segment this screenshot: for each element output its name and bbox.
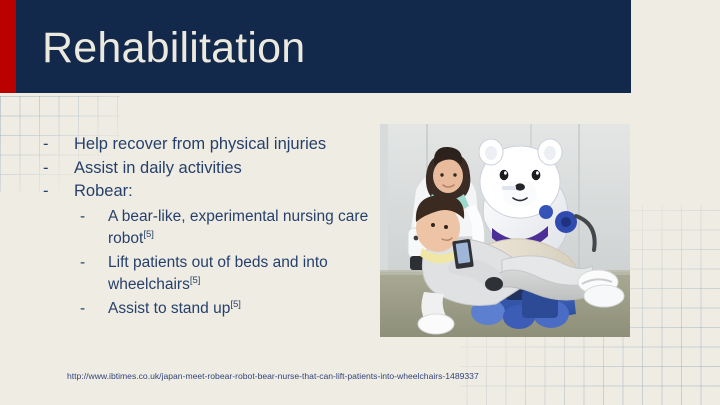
bullet-dash-icon: - [43,133,49,157]
bullet-dash-icon: - [43,180,49,204]
header-accent-bar [0,0,16,93]
source-url[interactable]: http://www.ibtimes.co.uk/japan-meet-robe… [67,370,479,382]
list-item-label: Assist in daily activities [74,159,242,177]
sub-list-item: - Assist to stand up[5] [78,298,370,321]
page-title: Rehabilitation [42,21,305,75]
sub-list-item-label: A bear-like, experimental nursing care r… [108,208,368,248]
bullet-dash-icon: - [43,157,49,181]
robear-photo: ROBEAR [380,124,630,337]
reference-marker: [5] [230,298,241,309]
list-item-label: Help recover from physical injuries [74,135,326,153]
sub-list-item-label: Lift patients out of beds and into wheel… [108,254,328,294]
sub-list-item: - Lift patients out of beds and into whe… [78,252,370,297]
list-item: - Assist in daily activities [40,157,370,181]
slide: Rehabilitation - Help recover from physi… [0,0,720,405]
bullet-list: - Help recover from physical injuries - … [40,133,370,321]
bullet-dash-icon: - [80,298,85,321]
reference-marker: [5] [190,275,201,286]
sub-list-item-label: Assist to stand up [108,300,230,317]
list-item: - Help recover from physical injuries [40,133,370,157]
sub-list-item: - A bear-like, experimental nursing care… [78,206,370,251]
list-item-label: Robear: [74,182,133,200]
sub-bullet-list: - A bear-like, experimental nursing care… [40,206,370,321]
bullet-dash-icon: - [80,206,85,229]
list-item: - Robear: [40,180,370,204]
reference-marker: [5] [143,229,154,240]
bullet-dash-icon: - [80,252,85,275]
